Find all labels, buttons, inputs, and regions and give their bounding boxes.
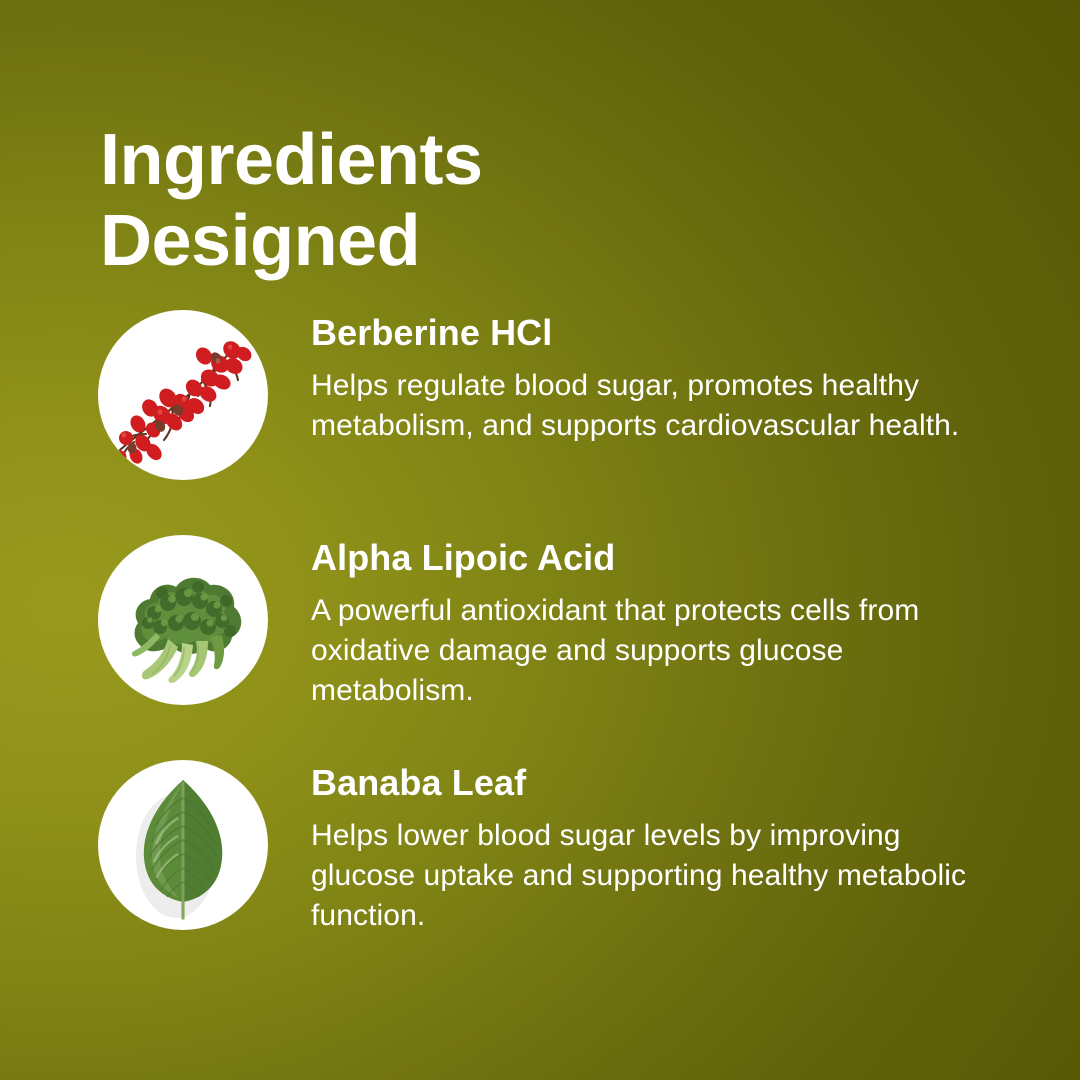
- barberry-branch-berries-icon: [98, 310, 268, 480]
- ingredient-description: A powerful antioxidant that protects cel…: [311, 591, 1001, 711]
- list-item: Berberine HCl Helps regulate blood sugar…: [0, 296, 1080, 521]
- ingredient-thumbnail: [98, 535, 268, 705]
- ingredient-name: Berberine HCl: [311, 312, 1011, 354]
- broccoli-icon: [98, 535, 268, 705]
- ingredient-copy: Berberine HCl Helps regulate blood sugar…: [311, 296, 1011, 446]
- ingredients-poster: Ingredients Designed: [0, 0, 1080, 1080]
- ingredient-thumbnail: [98, 310, 268, 480]
- ingredient-thumbnail: [98, 760, 268, 930]
- list-item: Alpha Lipoic Acid A powerful antioxidant…: [0, 521, 1080, 746]
- page-title: Ingredients Designed: [100, 120, 800, 281]
- ingredient-copy: Alpha Lipoic Acid A powerful antioxidant…: [311, 521, 1011, 711]
- ingredient-description: Helps regulate blood sugar, promotes hea…: [311, 366, 1001, 446]
- ingredient-list: Berberine HCl Helps regulate blood sugar…: [0, 296, 1080, 971]
- ingredient-name: Banaba Leaf: [311, 762, 1011, 804]
- green-leaf-icon: [98, 760, 268, 930]
- ingredient-name: Alpha Lipoic Acid: [311, 537, 1011, 579]
- list-item: Banaba Leaf Helps lower blood sugar leve…: [0, 746, 1080, 971]
- ingredient-copy: Banaba Leaf Helps lower blood sugar leve…: [311, 746, 1011, 936]
- ingredient-description: Helps lower blood sugar levels by improv…: [311, 816, 1001, 936]
